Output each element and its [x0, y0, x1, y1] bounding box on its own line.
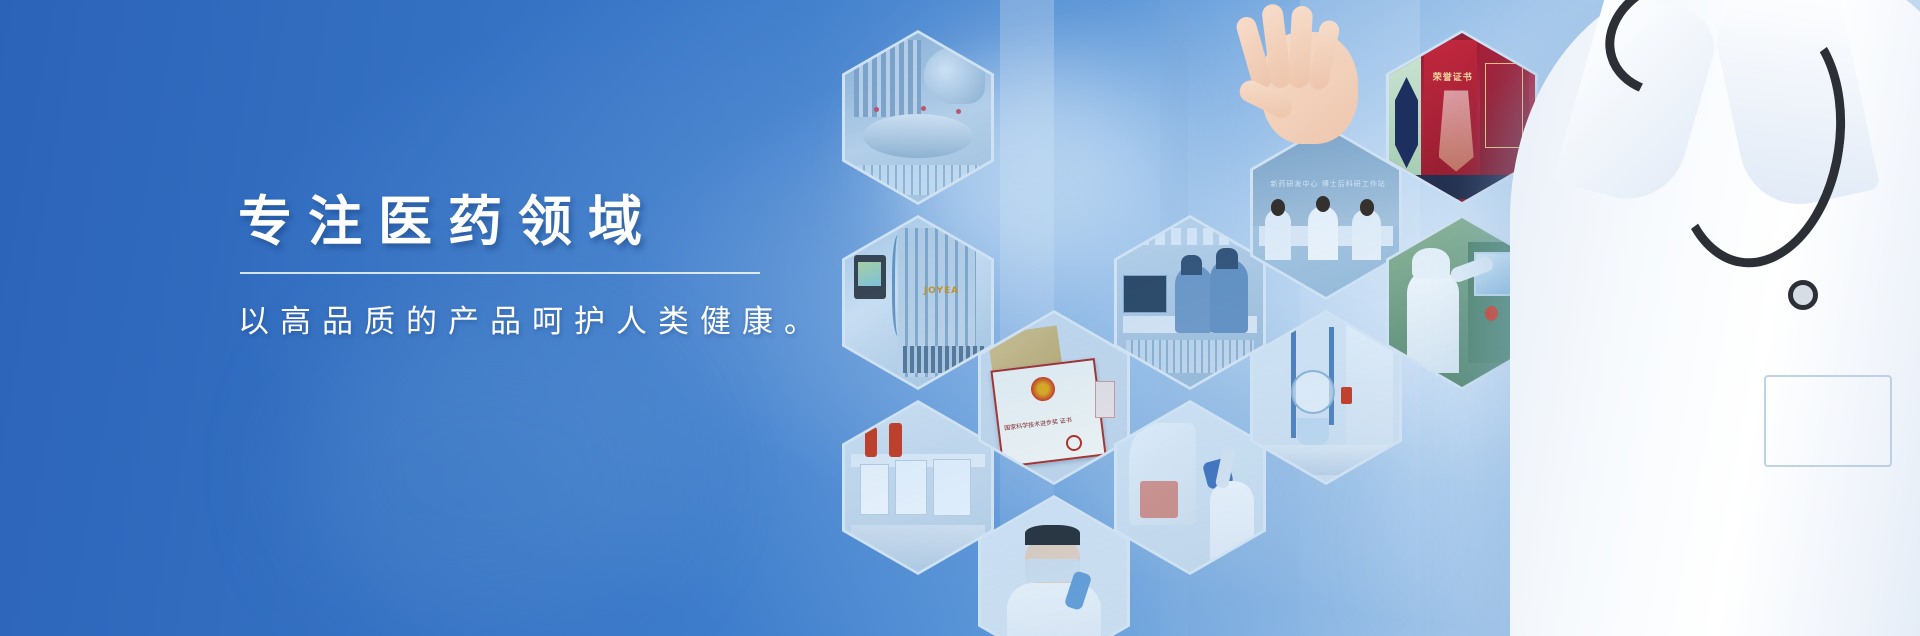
stethoscope-tube-loop — [1657, 0, 1862, 279]
hex-packaging-line[interactable]: JOYEA — [842, 215, 994, 390]
hero-banner: 专注医药领域 以高品质的产品呵护人类健康。 — [0, 0, 1920, 636]
bg-bokeh-5 — [1640, 60, 1900, 320]
hex-cleanroom[interactable] — [1386, 215, 1538, 390]
hex-certificate[interactable]: 国家科学技术进步奖 证书 — [978, 310, 1130, 485]
hex-filling-machine[interactable] — [842, 30, 994, 205]
hex-technician[interactable] — [978, 495, 1130, 636]
doctor-neck — [1660, 0, 1780, 60]
hex-awards[interactable]: 荣誉证书 — [1386, 30, 1538, 205]
doctor-collar-right — [1710, 0, 1881, 215]
stethoscope-tube-left — [1589, 0, 1769, 116]
hex-analytical-lab[interactable] — [842, 400, 994, 575]
page-title: 专注医药领域 — [238, 190, 878, 254]
stethoscope-chestpiece — [1788, 280, 1818, 310]
hex-control-room[interactable] — [1114, 215, 1266, 390]
title-divider — [240, 272, 760, 274]
hex-reactor[interactable] — [1250, 310, 1402, 485]
doctor-coat-pocket — [1764, 375, 1892, 467]
bg-bokeh-4 — [300, 320, 680, 620]
hex-research-center[interactable]: 新药研发中心 博士后科研工作站 — [1250, 125, 1402, 300]
page-subtitle: 以高品质的产品呵护人类健康。 — [238, 296, 878, 341]
hex-microscope[interactable] — [1114, 400, 1266, 575]
hex-awards-caption: 荣誉证书 — [1433, 70, 1473, 83]
hero-copy: 专注医药领域 以高品质的产品呵护人类健康。 — [238, 190, 878, 341]
hexagon-photo-cluster: JOYEA — [820, 0, 1600, 636]
